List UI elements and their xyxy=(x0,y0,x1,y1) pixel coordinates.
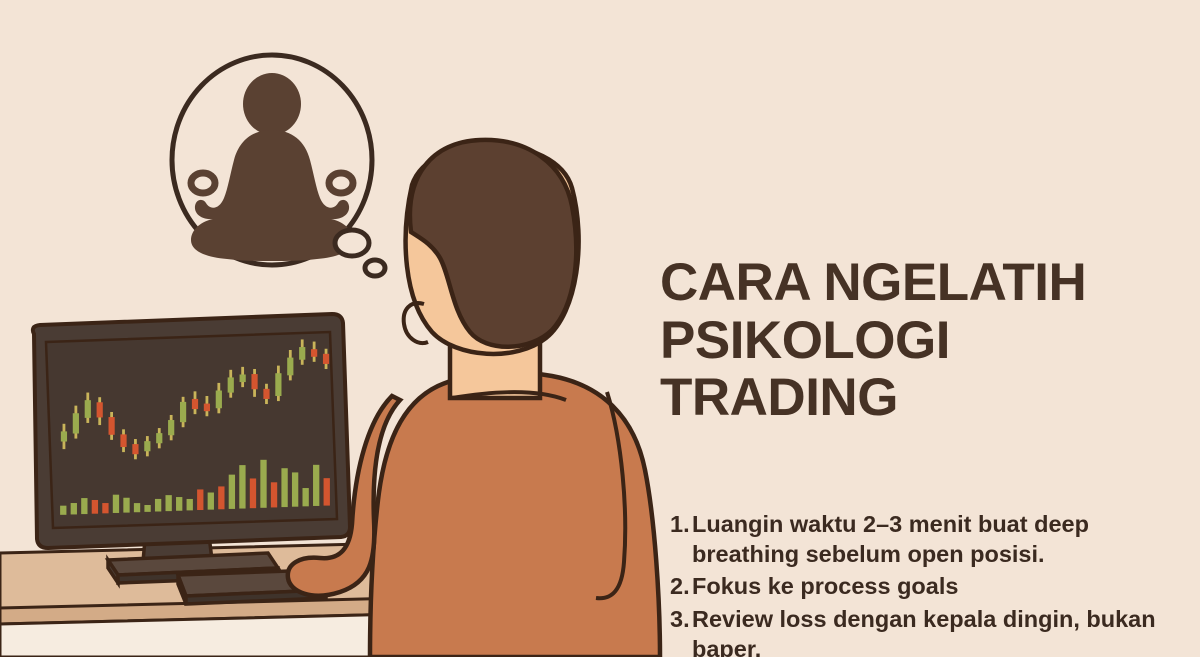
list-item-text: Luangin waktu 2–3 menit buat deep breath… xyxy=(692,509,1180,570)
list-item-number: 1. xyxy=(660,509,692,539)
title-line-2: PSIKOLOGI TRADING xyxy=(660,312,1180,428)
title-line-1: CARA NGELATIH xyxy=(660,253,1086,312)
list-item: 1. Luangin waktu 2–3 menit buat deep bre… xyxy=(660,509,1180,570)
list-item-text: Review loss dengan kepala dingin, bukan … xyxy=(692,604,1180,657)
text-panel: CARA NGELATIH PSIKOLOGI TRADING 1. Luang… xyxy=(660,196,1180,657)
thought-bubble-small-1 xyxy=(335,230,369,256)
page-title: CARA NGELATIH PSIKOLOGI TRADING xyxy=(660,196,1180,485)
list-item-number: 2. xyxy=(660,571,692,601)
list-item: 3. Review loss dengan kepala dingin, buk… xyxy=(660,604,1180,657)
tips-list: 1. Luangin waktu 2–3 menit buat deep bre… xyxy=(660,509,1180,657)
shirt xyxy=(370,373,660,657)
list-item: 2. Fokus ke process goals xyxy=(660,571,1180,601)
list-item-text: Fokus ke process goals xyxy=(692,571,1180,601)
list-item-number: 3. xyxy=(660,604,692,634)
thought-bubble-small-2 xyxy=(365,260,385,276)
poster-canvas: CARA NGELATIH PSIKOLOGI TRADING 1. Luang… xyxy=(0,0,1200,657)
